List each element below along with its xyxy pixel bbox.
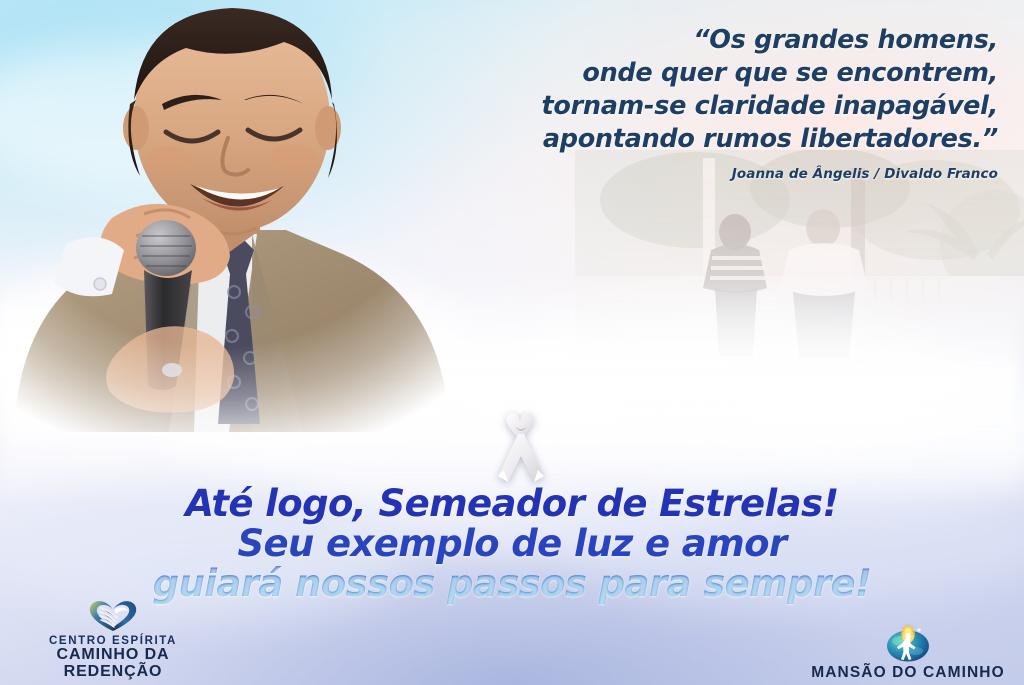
quote-block: “Os grandes homens, onde quer que se enc… bbox=[438, 24, 998, 182]
logo-centro-espirita[interactable]: CENTRO ESPÍRITA CAMINHO DA REDENÇÃO bbox=[8, 599, 218, 681]
memorial-poster: “Os grandes homens, onde quer que se enc… bbox=[0, 0, 1024, 685]
quote-line-2: onde quer que se encontrem, bbox=[438, 57, 998, 90]
logo-left-line-2: CAMINHO DA REDENÇÃO bbox=[8, 647, 218, 681]
headline-line-1: Até logo, Semeador de Estrelas! bbox=[0, 484, 1024, 524]
headline-line-3: guiará nossos passos para sempre! bbox=[0, 564, 1024, 604]
quote-line-1: “Os grandes homens, bbox=[438, 24, 998, 57]
quote-attribution: Joanna de Ângelis / Divaldo Franco bbox=[438, 166, 998, 182]
logo-left-text: CENTRO ESPÍRITA CAMINHO DA REDENÇÃO bbox=[8, 635, 218, 681]
headline-line-2: Seu exemplo de luz e amor bbox=[0, 524, 1024, 564]
logo-right-text: MANSÃO DO CAMINHO bbox=[811, 665, 1005, 681]
hands-heart-icon bbox=[84, 599, 142, 633]
globe-figure-light-icon bbox=[883, 619, 933, 663]
headline-block: Até logo, Semeador de Estrelas! Seu exem… bbox=[0, 484, 1024, 604]
portrait-divaldo-franco bbox=[0, 0, 464, 432]
quote-line-3: tornam-se claridade inapagável, bbox=[438, 90, 998, 123]
mourning-ribbon-icon bbox=[488, 410, 552, 488]
logo-mansao-do-caminho[interactable]: MANSÃO DO CAMINHO bbox=[802, 619, 1014, 681]
logo-right-line-1: MANSÃO DO CAMINHO bbox=[811, 665, 1005, 681]
quote-line-4: apontando rumos libertadores.” bbox=[438, 123, 998, 156]
